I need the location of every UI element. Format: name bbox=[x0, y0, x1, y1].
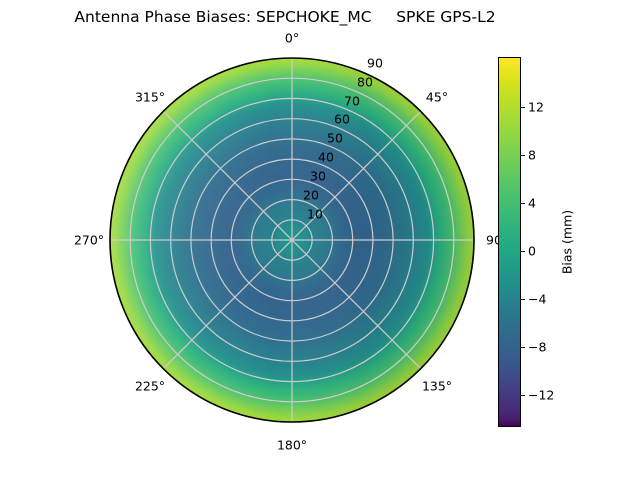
r-tick-80: 80 bbox=[357, 75, 373, 90]
colorbar-tick-mark bbox=[521, 395, 525, 396]
page-title: Antenna Phase Biases: SEPCHOKE_MC SPKE G… bbox=[0, 8, 570, 26]
figure-canvas: Antenna Phase Biases: SEPCHOKE_MC SPKE G… bbox=[0, 0, 640, 480]
colorbar-tick-label-m4: −4 bbox=[528, 292, 546, 307]
r-tick-70: 70 bbox=[344, 94, 360, 109]
colorbar-tick-label-12: 12 bbox=[528, 100, 544, 115]
colorbar-tick-label-0: 0 bbox=[528, 244, 536, 259]
theta-tick-135: 135° bbox=[422, 379, 452, 394]
colorbar-tick-mark bbox=[521, 155, 525, 156]
colorbar[interactable]: 12 8 4 0 −4 −8 −12 bbox=[498, 57, 521, 427]
theta-tick-0: 0° bbox=[285, 31, 299, 46]
colorbar-tick-mark bbox=[521, 347, 525, 348]
r-tick-50: 50 bbox=[327, 131, 343, 146]
colorbar-tick-mark bbox=[521, 203, 525, 204]
r-tick-30: 30 bbox=[310, 169, 326, 184]
theta-tick-270: 270° bbox=[74, 233, 104, 248]
theta-tick-315: 315° bbox=[135, 90, 165, 105]
r-tick-90: 90 bbox=[367, 56, 383, 71]
colorbar-tick-mark bbox=[521, 299, 525, 300]
colorbar-gradient bbox=[498, 57, 521, 427]
r-tick-60: 60 bbox=[334, 112, 350, 127]
colorbar-tick-mark bbox=[521, 251, 525, 252]
theta-tick-45: 45° bbox=[426, 90, 448, 105]
theta-tick-225: 225° bbox=[135, 379, 165, 394]
polar-plot-axes[interactable] bbox=[109, 57, 475, 423]
r-tick-40: 40 bbox=[318, 150, 334, 165]
colorbar-tick-label-m12: −12 bbox=[528, 388, 554, 403]
colorbar-tick-label-m8: −8 bbox=[528, 340, 546, 355]
colorbar-tick-mark bbox=[521, 107, 525, 108]
r-tick-20: 20 bbox=[303, 188, 319, 203]
polar-heatmap bbox=[109, 57, 475, 423]
colorbar-axis-label: Bias (mm) bbox=[560, 210, 575, 274]
colorbar-tick-label-4: 4 bbox=[528, 196, 536, 211]
theta-tick-180: 180° bbox=[277, 438, 307, 453]
polar-spokes bbox=[110, 58, 474, 422]
r-tick-10: 10 bbox=[307, 207, 323, 222]
colorbar-tick-label-8: 8 bbox=[528, 148, 536, 163]
